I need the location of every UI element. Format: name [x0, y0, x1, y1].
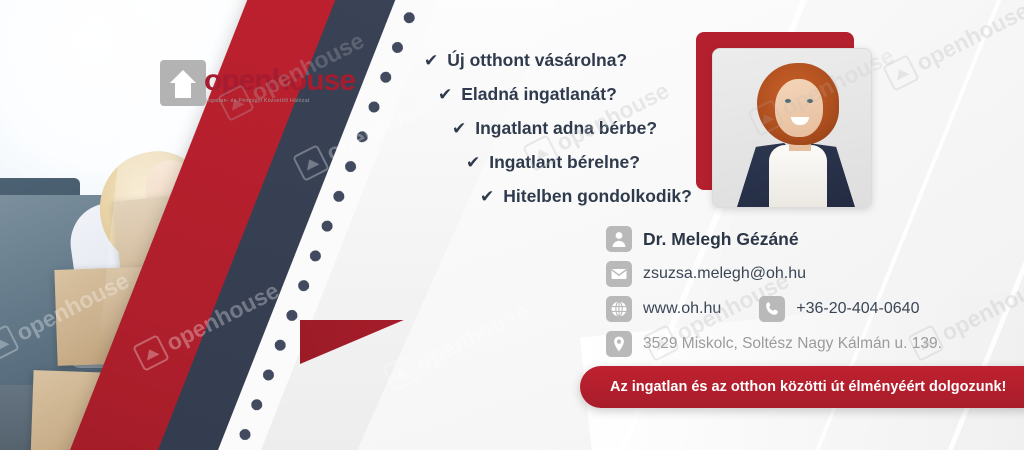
checklist-item: ✔ Hitelben gondolkodik?	[480, 186, 704, 207]
check-icon: ✔	[438, 85, 452, 105]
checklist-item-label: Eladná ingatlanát?	[461, 84, 617, 105]
logo-house-tile	[160, 60, 206, 106]
checklist-item-label: Új otthont vásárolna?	[447, 50, 627, 71]
contact-row-name: Dr. Melegh Gézáné	[606, 226, 1006, 252]
logo-tagline: Ingatlan- és Pénzügyi Közvetítő Hálózat	[206, 98, 310, 104]
contact-block: Dr. Melegh Gézáné zsuzsa.melegh@oh.hu ww…	[606, 226, 1006, 366]
check-icon: ✔	[452, 119, 466, 139]
check-icon: ✔	[480, 187, 494, 207]
house-icon	[170, 70, 196, 98]
agent-email: zsuzsa.melegh@oh.hu	[643, 265, 806, 283]
checklist-item: ✔ Ingatlant adna bérbe?	[452, 118, 704, 139]
phone-group[interactable]: +36-20-404-0640	[759, 296, 919, 322]
person-icon	[606, 226, 632, 252]
checklist-item-label: Ingatlant adna bérbe?	[475, 118, 657, 139]
agent-phone: +36-20-404-0640	[796, 300, 919, 318]
business-card-banner: openhouse Ingatlan- és Pénzügyi Közvetít…	[0, 0, 1024, 450]
contact-row-address: 3529 Miskolc, Soltész Nagy Kálmán u. 139…	[606, 331, 1006, 357]
check-icon: ✔	[466, 153, 480, 173]
globe-icon	[606, 296, 632, 322]
phone-icon	[759, 296, 785, 322]
checklist-item: ✔ Új otthont vásárolna?	[424, 50, 704, 71]
contact-row-email[interactable]: zsuzsa.melegh@oh.hu	[606, 261, 1006, 287]
checklist-item-label: Ingatlant bérelne?	[489, 152, 640, 173]
question-checklist: ✔ Új otthont vásárolna? ✔ Eladná ingatla…	[424, 50, 704, 220]
portrait-blouse	[769, 145, 827, 207]
openhouse-logo[interactable]: openhouse Ingatlan- és Pénzügyi Közvetít…	[160, 58, 320, 120]
logo-wordmark: openhouse	[204, 64, 355, 98]
slogan-text: Az ingatlan és az otthon közötti út élmé…	[610, 379, 1006, 395]
slogan-banner: Az ingatlan és az otthon közötti út élmé…	[580, 366, 1024, 408]
contact-row-web-phone: www.oh.hu +36-20-404-0640	[606, 296, 1006, 322]
portrait-eye	[785, 99, 791, 103]
checklist-item-label: Hitelben gondolkodik?	[503, 186, 692, 207]
location-pin-icon	[606, 331, 632, 357]
checklist-item: ✔ Ingatlant bérelne?	[466, 152, 704, 173]
agent-address: 3529 Miskolc, Soltész Nagy Kálmán u. 139…	[643, 335, 942, 353]
portrait-eye	[807, 99, 813, 103]
portrait-face	[775, 79, 823, 137]
envelope-icon	[606, 261, 632, 287]
agent-website[interactable]: www.oh.hu	[643, 300, 721, 318]
agent-name: Dr. Melegh Gézáné	[643, 229, 799, 250]
check-icon: ✔	[424, 51, 438, 71]
agent-portrait	[712, 48, 872, 208]
checklist-item: ✔ Eladná ingatlanát?	[438, 84, 704, 105]
